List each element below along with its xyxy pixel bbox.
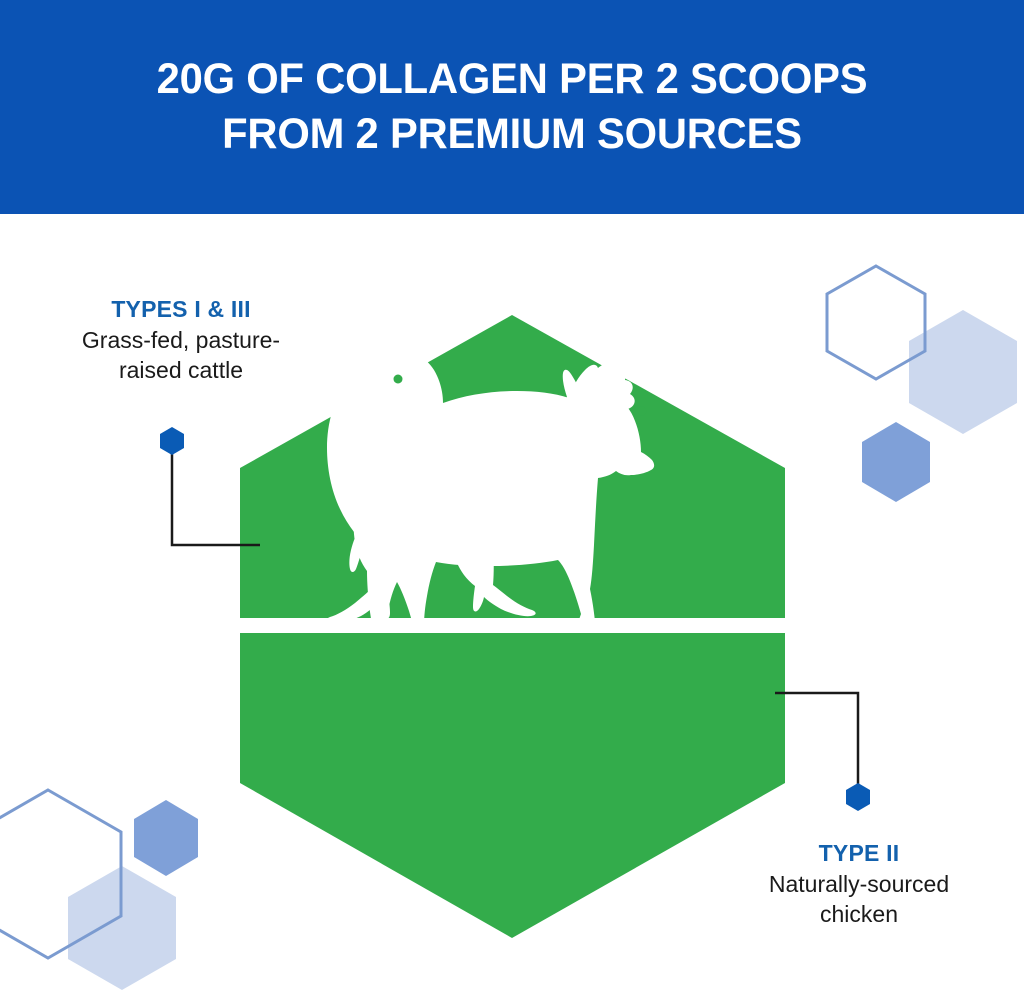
callout-cattle: TYPES I & III Grass-fed, pasture- raised… [22,296,340,386]
hexagon-marker-icon [160,427,184,455]
callout-chicken: TYPE II Naturally-sourced chicken [700,840,1018,930]
callout-connector-right [775,680,885,820]
decorative-hexagon-cluster-top-right [800,262,1024,518]
outline-hexagon-icon [0,790,121,958]
callout-chicken-body-line-1: Naturally-sourced [700,870,1018,900]
outline-hexagon-icon [827,266,925,379]
page-title: 20G OF COLLAGEN PER 2 SCOOPS FROM 2 PREM… [85,52,939,162]
callout-chicken-title: TYPE II [700,840,1018,866]
callout-connector-left [150,420,260,565]
connector-line [172,454,260,545]
infographic-canvas: 20G OF COLLAGEN PER 2 SCOOPS FROM 2 PREM… [0,0,1024,990]
page-title-line-2: FROM 2 PREMIUM SOURCES [85,107,939,162]
callout-cattle-body-line-1: Grass-fed, pasture- [22,326,340,356]
callout-cattle-title: TYPES I & III [22,296,340,322]
solid-hexagon-icon [862,422,930,502]
solid-hexagon-icon [134,800,198,876]
connector-line [775,693,858,785]
chicken-eye-icon [394,375,403,384]
callout-chicken-body-line-2: chicken [700,900,1018,930]
cow-eye-icon [638,407,647,416]
hexagon-marker-icon [846,783,870,811]
pale-hexagon-icon [909,310,1017,434]
pale-hexagon-icon [68,866,176,990]
header-banner: 20G OF COLLAGEN PER 2 SCOOPS FROM 2 PREM… [0,0,1024,214]
page-title-line-1: 20G OF COLLAGEN PER 2 SCOOPS [85,52,939,107]
callout-cattle-body-line-2: raised cattle [22,356,340,386]
decorative-hexagon-cluster-bottom-left [0,760,220,990]
